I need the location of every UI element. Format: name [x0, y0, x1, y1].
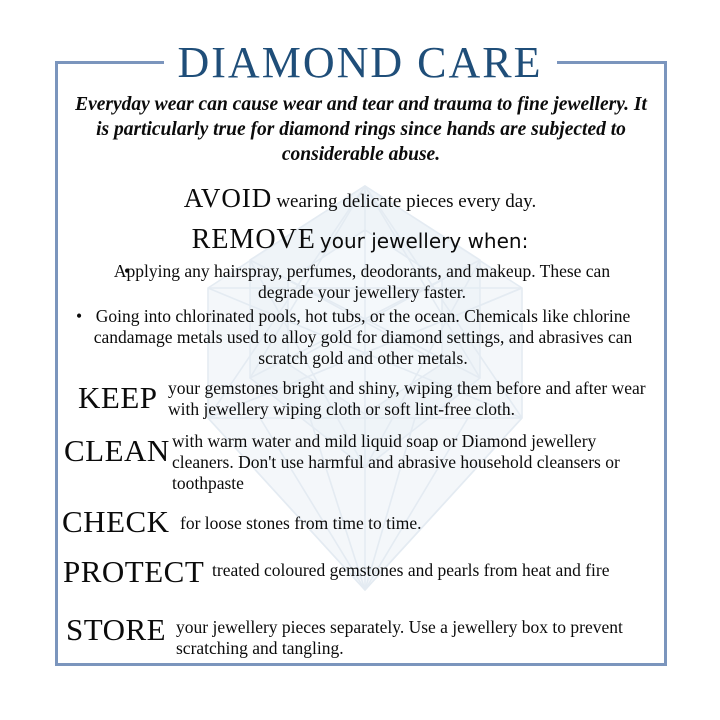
tip-keyword-store: STORE	[66, 612, 166, 648]
tip-keyword-protect: PROTECT	[63, 554, 204, 590]
headline-text-avoid: wearing delicate pieces every day.	[276, 191, 536, 212]
poster-title-container: DIAMOND CARE	[0, 38, 720, 88]
bullet-marker-icon: •	[124, 261, 130, 282]
headline-keyword-avoid: AVOID	[184, 183, 273, 213]
tip-text-store: your jewellery pieces separately. Use a …	[176, 617, 636, 659]
intro-paragraph: Everyday wear can cause wear and tear an…	[68, 92, 654, 167]
headline-text-remove: your jewellery when:	[320, 229, 528, 253]
diamond-care-poster: DIAMOND CARE Everyday wear can cause wea…	[0, 0, 720, 720]
tip-text-protect: treated coloured gemstones and pearls fr…	[212, 560, 642, 581]
tip-keyword-clean: CLEAN	[64, 433, 170, 469]
headline-row-avoid: AVOID wearing delicate pieces every day.	[0, 183, 720, 214]
list-item: • Going into chlorinated pools, hot tubs…	[74, 306, 652, 369]
tip-text-clean: with warm water and mild liquid soap or …	[172, 431, 658, 494]
headline-row-remove: REMOVE your jewellery when:	[0, 224, 720, 256]
bullet-text: Applying any hairspray, perfumes, deodor…	[114, 261, 610, 302]
tip-text-keep: your gemstones bright and shiny, wiping …	[168, 378, 658, 420]
headline-keyword-remove: REMOVE	[192, 224, 316, 255]
tip-text-check: for loose stones from time to time.	[180, 513, 650, 534]
bullet-text: Going into chlorinated pools, hot tubs, …	[94, 306, 632, 368]
tip-keyword-check: CHECK	[62, 504, 170, 540]
tip-keyword-keep: KEEP	[78, 380, 158, 416]
list-item: • Applying any hairspray, perfumes, deod…	[112, 261, 612, 303]
bullet-marker-icon: •	[76, 306, 82, 327]
page-title: DIAMOND CARE	[164, 38, 557, 88]
